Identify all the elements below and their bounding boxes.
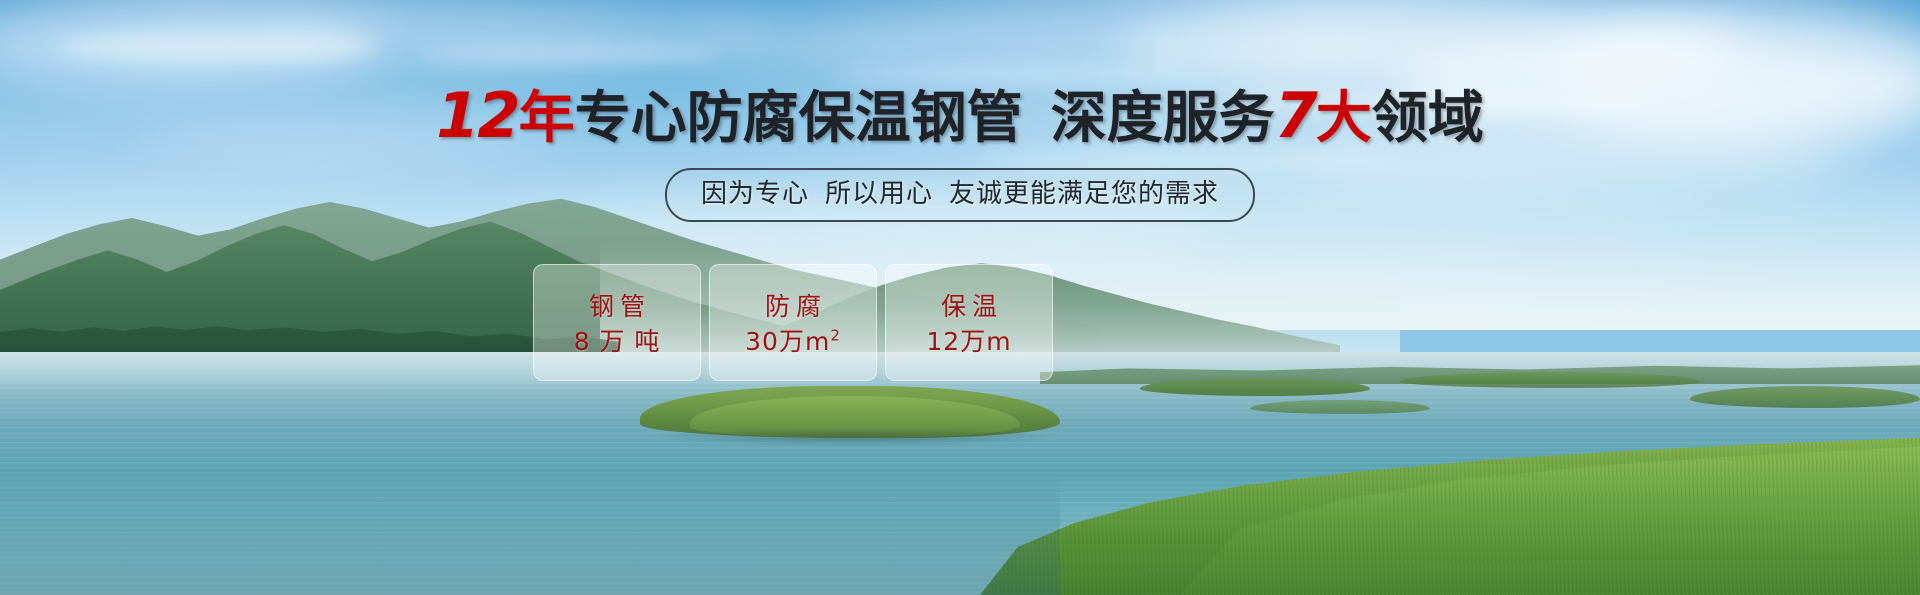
- headline-fields-number: 7: [1275, 79, 1316, 152]
- headline-years-unit: 年: [519, 86, 575, 151]
- headline-fields-unit: 大: [1316, 86, 1372, 151]
- stat-value-main: 8 万 吨: [574, 327, 661, 356]
- subtitle-pill: 因为专心所以用心友诚更能满足您的需求: [665, 168, 1255, 222]
- stat-value-main: 12万m: [926, 327, 1011, 356]
- subtitle-segment-3: 友诚更能满足您的需求: [949, 179, 1219, 209]
- headline-fields-text: 领域: [1372, 86, 1484, 151]
- headline: 12年专心防腐保温钢管深度服务7大领域: [0, 84, 1920, 151]
- stat-value-main: 30万m: [745, 327, 830, 356]
- stat-card-label: 防腐: [759, 290, 827, 324]
- stat-card-value: 8 万 吨: [574, 324, 661, 360]
- stat-card-anticorrosion: 防腐 30万m2: [709, 264, 877, 381]
- banner-content: 12年专心防腐保温钢管深度服务7大领域 因为专心所以用心友诚更能满足您的需求 钢…: [0, 0, 1920, 595]
- headline-years-number: 12: [436, 79, 518, 152]
- stat-card-label: 钢管: [583, 290, 651, 324]
- stat-value-exponent: 2: [830, 326, 841, 344]
- subtitle-segment-1: 因为专心: [701, 179, 809, 209]
- stat-card-value: 12万m: [926, 324, 1011, 360]
- stat-card-value: 30万m2: [745, 324, 841, 360]
- stat-card-label: 保温: [935, 290, 1003, 324]
- subtitle-container: 因为专心所以用心友诚更能满足您的需求: [0, 168, 1920, 222]
- stat-cards: 钢管 8 万 吨 防腐 30万m2 保温 12万m: [533, 264, 1153, 381]
- stat-card-steel-pipe: 钢管 8 万 吨: [533, 264, 701, 381]
- headline-service-text: 深度服务: [1051, 86, 1275, 151]
- stat-card-insulation: 保温 12万m: [885, 264, 1053, 381]
- subtitle-segment-2: 所以用心: [825, 179, 933, 209]
- hero-banner: 12年专心防腐保温钢管深度服务7大领域 因为专心所以用心友诚更能满足您的需求 钢…: [0, 0, 1920, 595]
- headline-main-text: 专心防腐保温钢管: [575, 86, 1023, 151]
